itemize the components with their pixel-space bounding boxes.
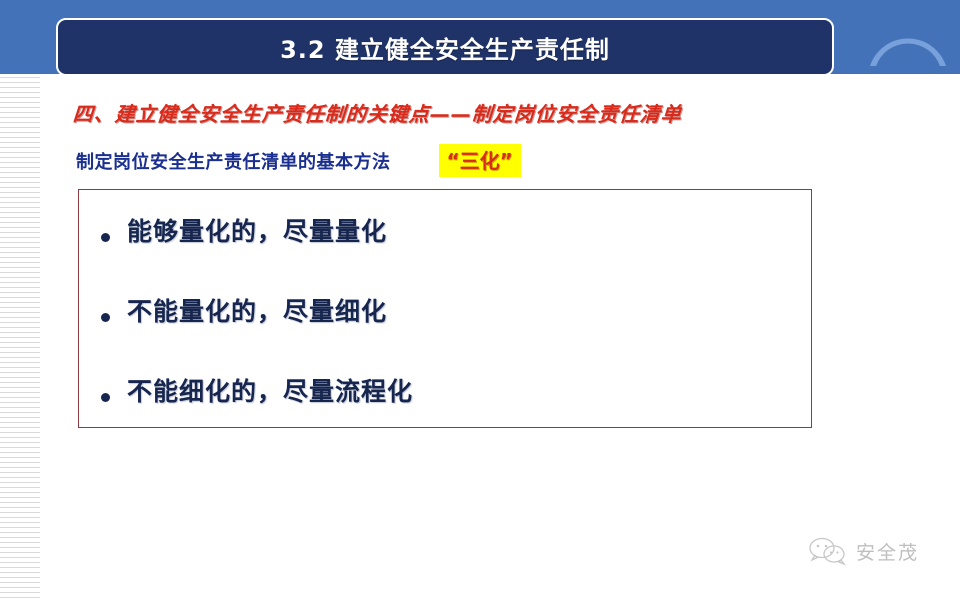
list-item: 不能细化的，尽量流程化 (79, 372, 811, 452)
bullet-dot-icon (101, 301, 127, 327)
left-strip-blue-block (0, 0, 40, 74)
list-item: 不能量化的，尽量细化 (79, 292, 811, 372)
wechat-icon (808, 536, 848, 566)
left-strip-lines (0, 74, 40, 601)
slide-canvas: 3.2 建立健全安全生产责任制 四、建立健全安全生产责任制的关键点——制定岗位安… (0, 0, 960, 601)
section-heading-red: 四、建立健全安全生产责任制的关键点——制定岗位安全责任清单 (72, 98, 683, 127)
bullet-dot-icon (101, 221, 127, 247)
slide-title-bar: 3.2 建立健全安全生产责任制 (56, 18, 834, 76)
bullet-dot-icon (101, 381, 127, 407)
list-item-label: 能够量化的，尽量量化 (127, 212, 387, 248)
arc-decoration-icon (866, 4, 950, 78)
list-item-label: 不能量化的，尽量细化 (127, 292, 387, 328)
left-edge-strip (0, 0, 40, 601)
page-title: 3.2 建立健全安全生产责任制 (280, 30, 610, 65)
watermark: 安全茂 (808, 536, 919, 566)
list-item-label: 不能细化的，尽量流程化 (127, 372, 413, 408)
content-box: 能够量化的，尽量量化 不能量化的，尽量细化 不能细化的，尽量流程化 (78, 189, 812, 428)
list-item: 能够量化的，尽量量化 (79, 212, 811, 292)
subheading-row: 制定岗位安全生产责任清单的基本方法 “三化” (76, 144, 521, 177)
watermark-label: 安全茂 (856, 538, 919, 565)
subheading-highlight-badge: “三化” (439, 144, 521, 177)
subheading-text: 制定岗位安全生产责任清单的基本方法 (76, 148, 391, 174)
